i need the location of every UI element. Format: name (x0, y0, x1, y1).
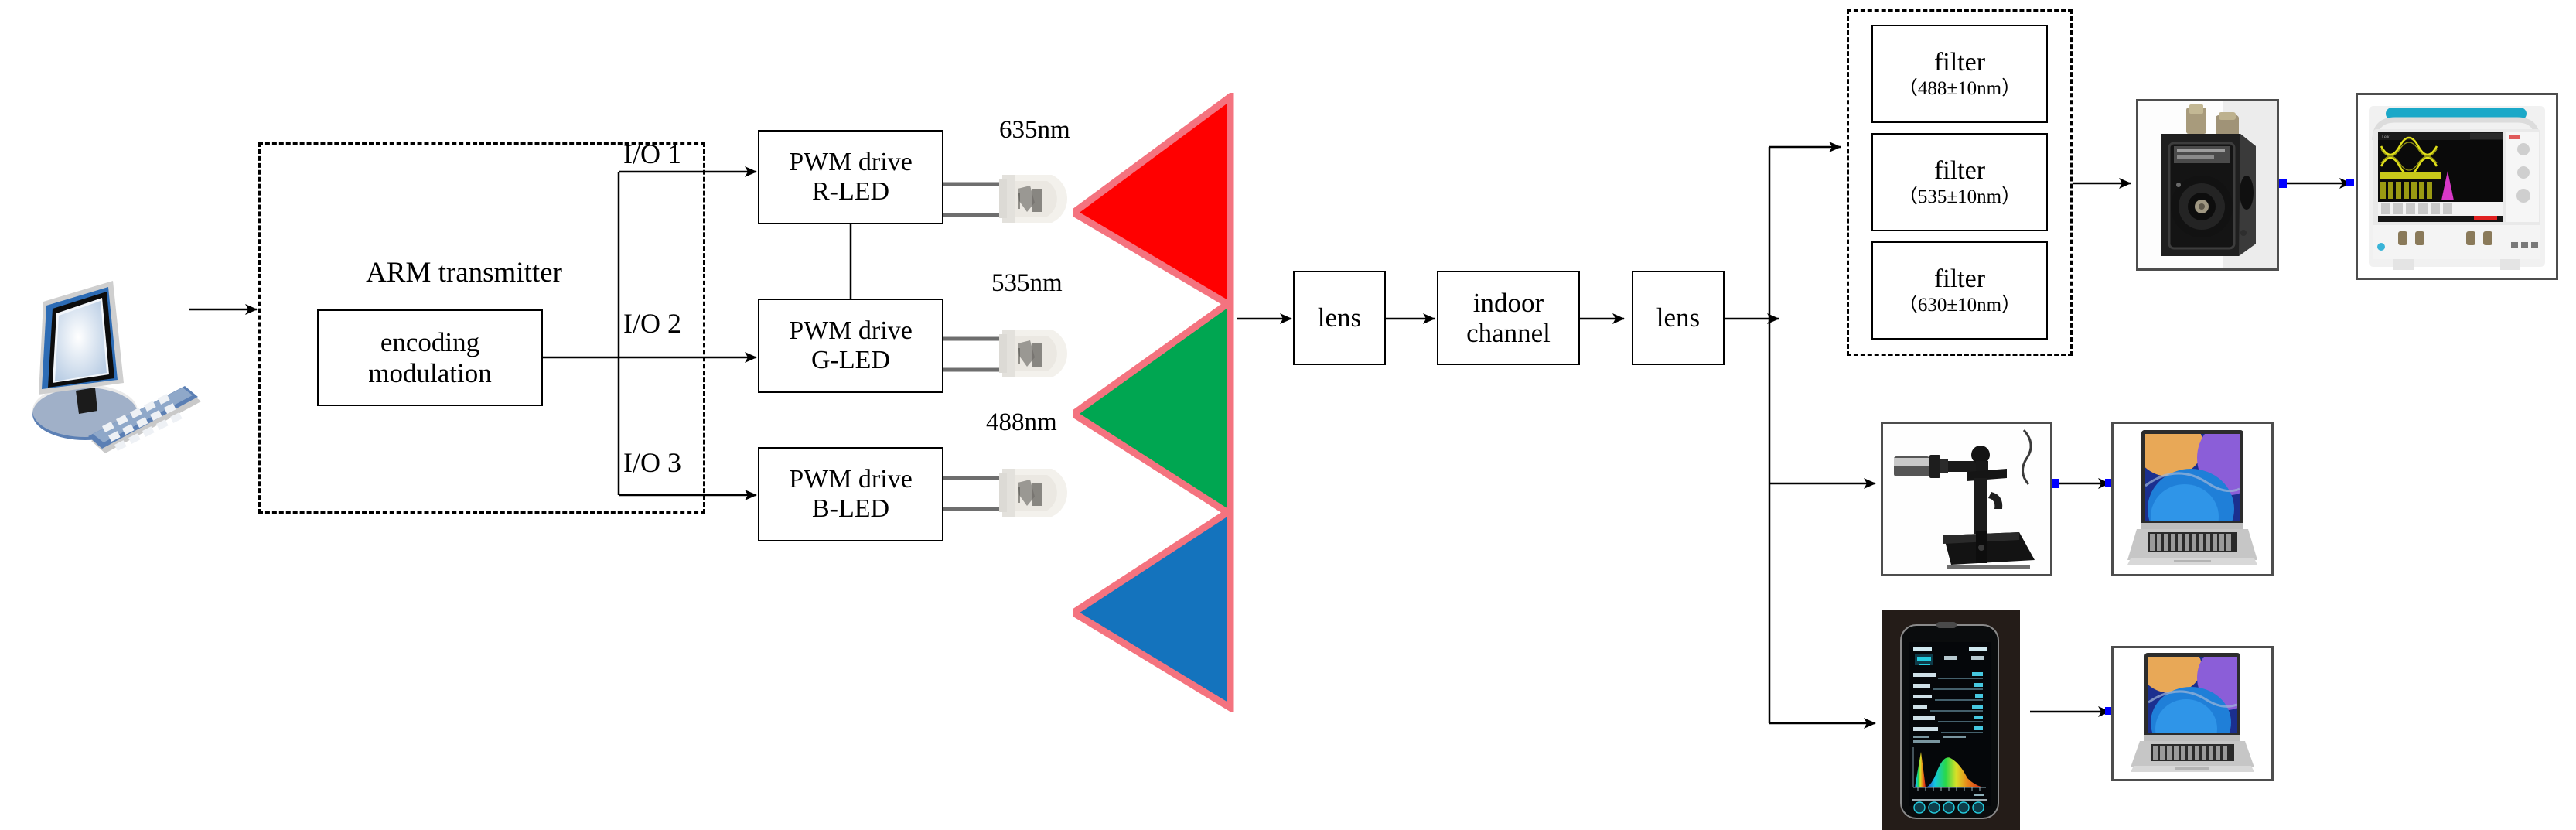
indoor-channel-box[interactable]: indoor channel (1437, 271, 1580, 365)
filter-630-title: filter (1934, 265, 1985, 294)
filter-box-488[interactable]: filter （488±10nm） (1871, 25, 2048, 123)
photodetector-photo[interactable] (2136, 99, 2279, 271)
led-bulb-red-icon (996, 152, 1083, 246)
wavelength-label-green: 535nm (991, 269, 1063, 298)
pwm-r-line1: PWM drive (789, 148, 913, 177)
pwm-drive-r-led-box[interactable]: PWM drive R-LED (758, 130, 943, 224)
rgb-beam-stack (1073, 93, 1240, 712)
pwm-g-line2: G-LED (811, 346, 890, 375)
pwm-b-line2: B-LED (812, 494, 889, 524)
pwm-r-line2: R-LED (812, 177, 889, 207)
encoder-line2: modulation (368, 358, 491, 388)
desktop-computer-icon (22, 275, 207, 456)
connector-dot-scope (2346, 179, 2354, 186)
filter-488-spec: （488±10nm） (1899, 78, 2021, 100)
pwm-b-line1: PWM drive (789, 465, 913, 494)
svg-text:Tek: Tek (2381, 135, 2390, 140)
filter-535-spec: （535±10nm） (1899, 186, 2021, 208)
lens-tx-box[interactable]: lens (1293, 271, 1386, 365)
pwm-drive-g-led-box[interactable]: PWM drive G-LED (758, 299, 943, 393)
io-port-2-label: I/O 2 (623, 307, 681, 340)
filter-box-630[interactable]: filter （630±10nm） (1871, 241, 2048, 340)
filter-488-title: filter (1934, 48, 1985, 77)
encoding-modulation-box[interactable]: encoding modulation (317, 309, 543, 406)
lens-rx-box[interactable]: lens (1632, 271, 1725, 365)
io-port-3-label: I/O 3 (623, 446, 681, 479)
encoder-line1: encoding (380, 327, 479, 357)
lens-rx-label: lens (1656, 302, 1700, 333)
laptop-photo-2[interactable] (2111, 646, 2274, 781)
arm-board-label-line1: ARM transmitter (302, 255, 626, 290)
filter-630-spec: （630±10nm） (1899, 295, 2021, 316)
led-bulb-green-icon (996, 306, 1083, 401)
wavelength-label-blue: 488nm (986, 408, 1057, 437)
handheld-spectrometer-photo[interactable] (1882, 610, 2020, 830)
led-bulb-blue-icon (996, 446, 1083, 540)
indoor-channel-line2: channel (1466, 318, 1551, 348)
beam-triangle-blue (1073, 511, 1230, 708)
filter-535-title: filter (1934, 156, 1985, 186)
io-port-1-label: I/O 1 (623, 138, 681, 170)
indoor-channel-line1: indoor (1473, 288, 1544, 318)
wavelength-label-red: 635nm (999, 116, 1070, 145)
diagram-canvas: ARM transmitter board encoding modulatio… (0, 0, 2576, 830)
optical-receiver-mount-photo[interactable] (1881, 422, 2052, 576)
beam-triangle-green (1073, 302, 1230, 514)
filter-box-535[interactable]: filter （535±10nm） (1871, 133, 2048, 231)
oscilloscope-photo[interactable]: Tek (2356, 93, 2558, 280)
lens-tx-label: lens (1318, 302, 1361, 333)
pwm-drive-b-led-box[interactable]: PWM drive B-LED (758, 447, 943, 541)
laptop-photo-1[interactable] (2111, 422, 2274, 576)
pwm-g-line1: PWM drive (789, 316, 913, 346)
beam-triangle-red (1073, 97, 1230, 306)
